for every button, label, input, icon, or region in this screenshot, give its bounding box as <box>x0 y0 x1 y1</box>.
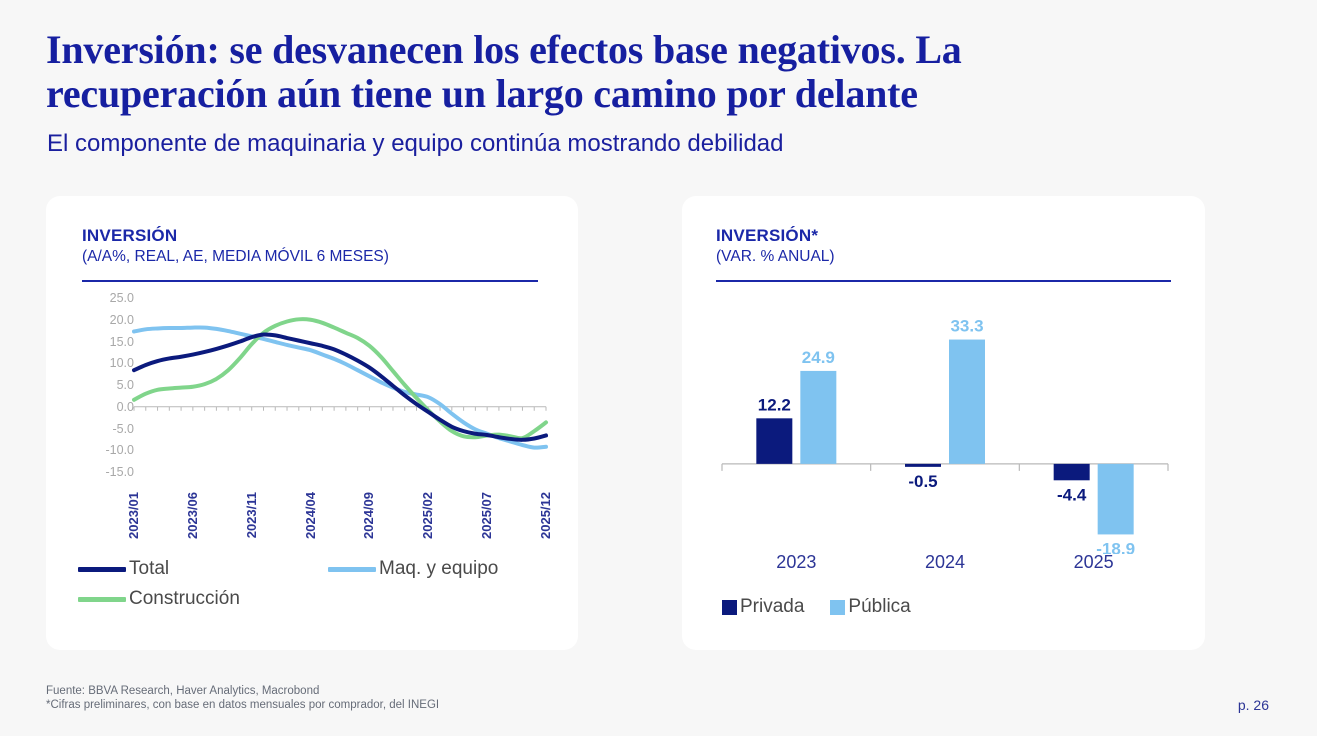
x-tick-label: 2025/07 <box>479 492 494 539</box>
x-tick-label: 2023/06 <box>185 492 200 539</box>
bar-chart-svg: 12.224.9-0.533.3-4.4-18.9 <box>706 294 1184 554</box>
x-tick-label: 2023/11 <box>244 492 259 538</box>
page-subtitle: El componente de maquinaria y equipo con… <box>47 130 784 158</box>
legend-swatch-construccion <box>78 597 126 602</box>
bar-chart-subtitle: (VAR. % ANUAL) <box>716 248 835 266</box>
legend-swatch-total <box>78 567 126 572</box>
legend-item-privada[interactable]: Privada <box>722 596 804 618</box>
page-title-line1: Inversión: se desvanecen los efectos bas… <box>46 28 1226 72</box>
svg-text:-4.4: -4.4 <box>1057 485 1087 504</box>
source-note: Fuente: BBVA Research, Haver Analytics, … <box>46 684 439 712</box>
legend-label-publica: Pública <box>848 596 910 618</box>
source-note-line1: Fuente: BBVA Research, Haver Analytics, … <box>46 684 439 698</box>
x-tick-label: 2025/12 <box>538 492 553 539</box>
line-chart-title: INVERSIÓN <box>82 226 177 246</box>
bar-chart-card: INVERSIÓN* (VAR. % ANUAL) 12.224.9-0.533… <box>682 196 1205 650</box>
legend-item-construccion[interactable]: Construcción <box>78 588 240 610</box>
x-tick-label: 2023/01 <box>126 492 141 539</box>
bar-category-label: 2023 <box>776 552 816 573</box>
legend-label-privada: Privada <box>740 596 804 618</box>
bar-chart-category-axis: 202320242025 <box>706 552 1184 582</box>
source-note-line2: *Cifras preliminares, con base en datos … <box>46 698 439 712</box>
legend-label-construccion: Construcción <box>129 588 240 610</box>
bar-chart-title: INVERSIÓN* <box>716 226 818 246</box>
svg-text:12.2: 12.2 <box>758 395 791 414</box>
line-chart-divider <box>82 280 538 282</box>
bar-chart-divider <box>716 280 1171 282</box>
svg-text:24.9: 24.9 <box>802 348 835 367</box>
svg-text:33.3: 33.3 <box>950 317 983 336</box>
legend-swatch-publica <box>830 600 845 615</box>
legend-swatch-privada <box>722 600 737 615</box>
line-chart-svg <box>72 294 552 494</box>
page-title: Inversión: se desvanecen los efectos bas… <box>46 28 1226 116</box>
line-chart-plot <box>72 294 552 494</box>
x-tick-label: 2025/02 <box>420 492 435 539</box>
legend-swatch-maquinaria <box>328 567 376 572</box>
bar-category-label: 2024 <box>925 552 965 573</box>
legend-item-maquinaria[interactable]: Maq. y equipo <box>328 558 498 580</box>
line-chart-card: INVERSIÓN (A/A%, REAL, AE, MEDIA MÓVIL 6… <box>46 196 578 650</box>
legend-label-maquinaria: Maq. y equipo <box>379 558 498 580</box>
page-number: p. 26 <box>1238 697 1269 713</box>
line-chart-subtitle: (A/A%, REAL, AE, MEDIA MÓVIL 6 MESES) <box>82 248 389 266</box>
legend-item-total[interactable]: Total <box>78 558 169 580</box>
svg-text:-0.5: -0.5 <box>908 472 937 491</box>
slide-root: Inversión: se desvanecen los efectos bas… <box>0 0 1317 736</box>
legend-label-total: Total <box>129 558 169 580</box>
legend-item-publica[interactable]: Pública <box>830 596 910 618</box>
page-title-line2: recuperación aún tiene un largo camino p… <box>46 72 1226 116</box>
bar-chart-legend: Privada Pública <box>722 596 937 618</box>
bar-category-label: 2025 <box>1074 552 1114 573</box>
x-tick-label: 2024/04 <box>303 492 318 539</box>
x-tick-label: 2024/09 <box>361 492 376 539</box>
bar-chart-plot: 12.224.9-0.533.3-4.4-18.9 <box>706 294 1184 554</box>
